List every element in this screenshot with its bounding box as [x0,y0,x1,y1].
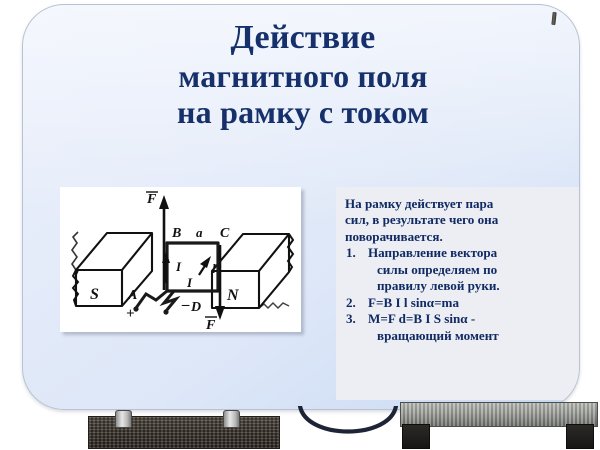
list-item: 3. M=F d=B I S sinα - вращающий момент [345,311,580,344]
list-item-number: 3. [346,311,356,327]
label-pole-north: N [226,287,240,304]
label-corner-b: B [171,226,181,241]
label-corner-c: C [220,226,230,241]
list-item-line: вращающий момент [368,328,580,344]
label-current-1: I [175,259,182,274]
label-current-2: I [186,275,193,290]
left-stand [88,410,278,447]
right-stand-leg [402,424,430,449]
label-side-a: a [196,225,203,240]
left-stand-knob [115,410,132,428]
marker-pen-icon [551,12,556,25]
list-item-number: 2. [346,295,356,311]
intro-line-3: поворачивается. [345,229,580,245]
intro-line-2: сил, в результате чего она [345,212,580,228]
intro-line-1: На рамку действует пара [345,196,580,212]
label-pole-south: S [90,286,99,303]
list-item-line: силы определяем по [368,262,580,278]
figure-drawing: F F B a C I I l A + – D S N [60,187,301,332]
right-stand [400,402,596,447]
label-force-top: F [146,192,157,207]
points-list: 1. Направление вектора силы определяем п… [345,245,580,344]
formula-line: M=F d=B I S sinα - [368,311,475,326]
intro-text: На рамку действует пара сил, в результат… [345,196,580,245]
label-corner-d: D [190,300,201,315]
title-line-3: на рамку с током [63,94,543,130]
list-item-line: Направление вектора [368,245,497,260]
list-item: 2. F=B I l sinα=ma [345,295,580,311]
label-terminal-plus: + [126,306,135,322]
left-stand-knob [223,410,240,428]
label-terminal-minus: – [181,297,190,313]
label-side-l: l [212,261,216,276]
formula-line: F=B I l sinα=ma [368,295,459,310]
title-line-1: Действие [63,19,543,58]
hanging-cable [296,406,400,450]
label-force-bottom: F [205,318,216,332]
right-stand-leg [566,424,594,449]
label-corner-a: A [127,288,137,303]
presentation-board: Действие магнитного поля на рамку с токо… [22,4,580,410]
list-item-line: правилу левой руки. [368,278,580,294]
list-item-number: 1. [346,245,356,261]
list-item: 1. Направление вектора силы определяем п… [345,245,580,294]
explanation-panel: На рамку действует пара сил, в результат… [336,187,580,400]
physics-figure: F F B a C I I l A + – D S N [60,187,301,332]
slide-stage: Действие магнитного поля на рамку с токо… [0,0,600,450]
title-line-2: магнитного поля [63,58,543,94]
page-title: Действие магнитного поля на рамку с токо… [63,19,543,131]
